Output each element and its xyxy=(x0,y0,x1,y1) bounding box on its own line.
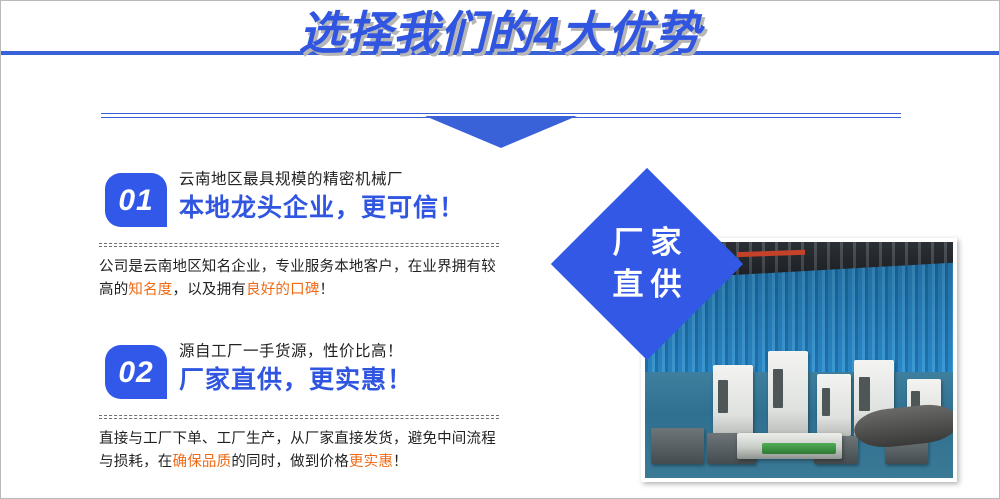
diamond-badge: 厂家 直供 xyxy=(552,169,742,359)
feature-headline-02: 厂家直供，更实惠！ xyxy=(179,363,413,397)
body-text: ！ xyxy=(393,454,408,470)
feature-subtitle-01: 云南地区最具规模的精密机械厂 xyxy=(179,169,465,191)
highlighted-text: 确保品质 xyxy=(173,454,232,470)
photo-machine-base-1 xyxy=(651,428,703,463)
body-text: ，以及拥有 xyxy=(173,282,247,298)
photo-machine-1 xyxy=(713,365,753,436)
feature-description-01: 公司是云南地区知名企业，专业服务本地客户，在业界拥有较高的知名度，以及拥有良好的… xyxy=(99,256,509,302)
feature-headline-01: 本地龙头企业，更可信！ xyxy=(179,191,465,225)
feature-dashed-divider-02 xyxy=(99,415,499,419)
feature-description-02: 直接与工厂下单、工厂生产，从厂家直接发货，避免中间流程与损耗，在确保品质的同时，… xyxy=(99,428,509,474)
feature-block-02: 02 源自工厂一手货源，性价比高！ 厂家直供，更实惠！ 直接与工厂下单、工厂生产… xyxy=(99,341,519,474)
photo-green-rail xyxy=(762,443,836,455)
photo-machine-3 xyxy=(817,374,851,435)
promo-banner-page: 选择我们的4大优势 01 云南地区最具规模的精密机械厂 本地龙头企业，更可信！ … xyxy=(0,0,1000,499)
photo-machine-2 xyxy=(768,351,808,436)
highlighted-text: 良好的口碑 xyxy=(246,282,320,298)
body-text: ！ xyxy=(320,282,335,298)
feature-header-02: 02 源自工厂一手货源，性价比高！ 厂家直供，更实惠！ xyxy=(99,341,519,405)
highlighted-text: 更实惠 xyxy=(349,454,393,470)
feature-headings-01: 云南地区最具规模的精密机械厂 本地龙头企业，更可信！ xyxy=(179,169,465,225)
feature-headings-02: 源自工厂一手货源，性价比高！ 厂家直供，更实惠！ xyxy=(179,341,413,397)
diamond-badge-text: 厂家 直供 xyxy=(552,169,742,359)
down-triangle-arrow-icon xyxy=(425,116,577,148)
body-text: 的同时，做到价格 xyxy=(231,454,349,470)
feature-dashed-divider-01 xyxy=(99,243,499,247)
page-title: 选择我们的4大优势 xyxy=(1,7,999,60)
diamond-line-2: 直供 xyxy=(606,264,689,306)
feature-number-badge-01: 01 xyxy=(105,173,167,227)
feature-block-01: 01 云南地区最具规模的精密机械厂 本地龙头企业，更可信！ 公司是云南地区知名企… xyxy=(99,169,519,302)
feature-header-01: 01 云南地区最具规模的精密机械厂 本地龙头企业，更可信！ xyxy=(99,169,519,233)
feature-number-badge-02: 02 xyxy=(105,345,167,399)
highlighted-text: 知名度 xyxy=(128,282,172,298)
diamond-line-1: 厂家 xyxy=(606,222,689,264)
feature-subtitle-02: 源自工厂一手货源，性价比高！ xyxy=(179,341,413,363)
